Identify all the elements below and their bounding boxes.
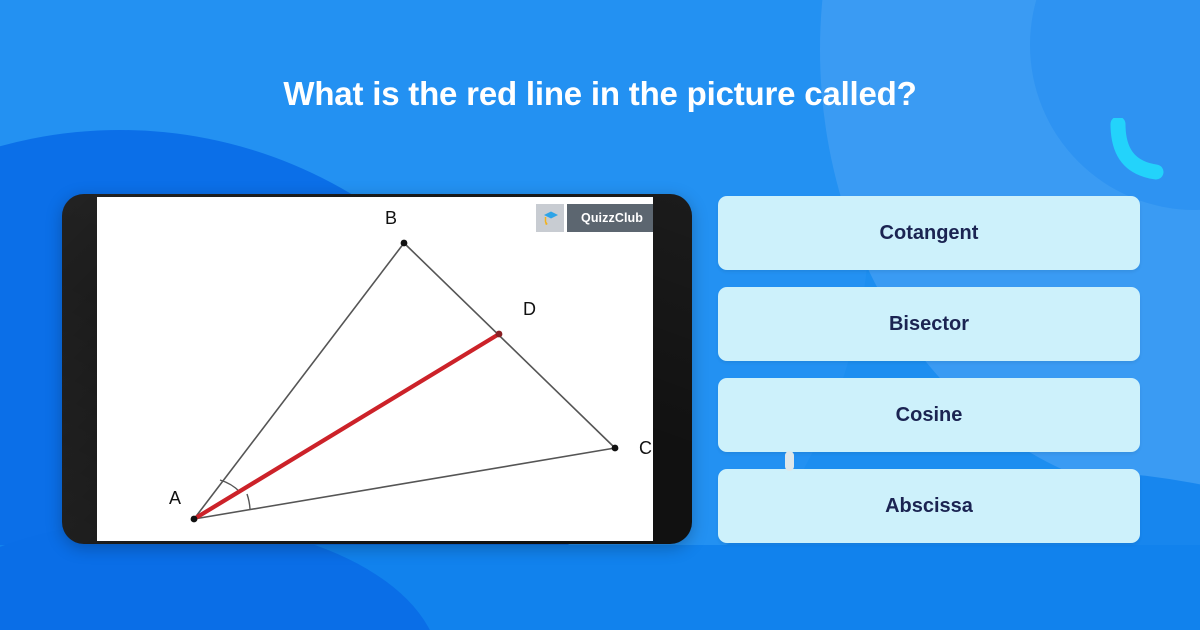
edge-bc	[404, 243, 615, 448]
answer-option-cotangent[interactable]: Cotangent	[718, 196, 1140, 270]
angle-arc-dac	[247, 494, 250, 509]
vertex-dot-b	[401, 240, 408, 247]
answer-option-label: Bisector	[889, 313, 969, 336]
answer-option-bisector[interactable]: Bisector	[718, 287, 1140, 361]
edge-ab	[194, 243, 404, 519]
vertex-label-d: D	[523, 299, 536, 319]
watermark: QuizzClub	[536, 204, 653, 232]
vertex-dot-c	[612, 445, 619, 452]
answer-option-label: Abscissa	[885, 495, 973, 518]
vertex-label-a: A	[169, 488, 181, 508]
device-screen: A B C D QuizzClub	[97, 197, 653, 541]
answer-options-list: Cotangent Bisector Cosine Abscissa	[718, 196, 1140, 543]
answer-option-abscissa[interactable]: Abscissa	[718, 469, 1140, 543]
swoosh-arc-icon	[1108, 118, 1168, 182]
page-title: What is the red line in the picture call…	[0, 74, 1200, 114]
edge-ac	[194, 448, 615, 519]
triangle-diagram: A B C D	[97, 197, 653, 541]
vertex-dot-a	[191, 516, 198, 523]
bisector-segment-ad	[194, 334, 499, 519]
graduation-cap-icon	[536, 204, 564, 232]
vertex-label-c: C	[639, 438, 652, 458]
answer-option-cosine[interactable]: Cosine	[718, 378, 1140, 452]
answer-option-label: Cotangent	[880, 222, 979, 245]
drag-handle-nub[interactable]	[785, 451, 794, 471]
vertex-label-b: B	[385, 208, 397, 228]
quiz-card: What is the red line in the picture call…	[0, 0, 1200, 630]
device-mockup: A B C D QuizzClub	[62, 194, 692, 544]
vertex-dot-d	[496, 331, 503, 338]
answer-option-label: Cosine	[896, 404, 963, 427]
watermark-label: QuizzClub	[567, 204, 653, 232]
